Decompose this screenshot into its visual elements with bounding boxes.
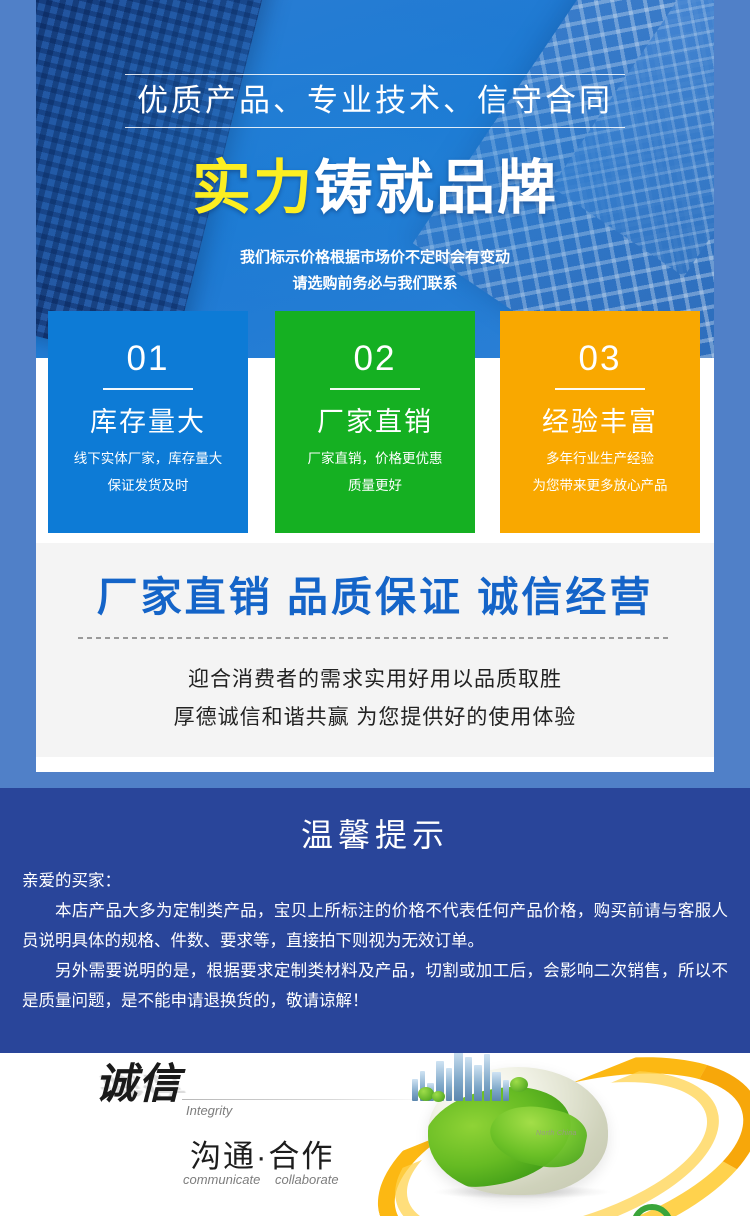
slogan-dotted-divider: [78, 637, 672, 639]
slogan-subtext-line-1: 迎合消费者的需求实用好用以品质取胜: [36, 661, 714, 699]
feature-card-02[interactable]: 02 厂家直销 厂家直销，价格更优惠 质量更好: [275, 311, 475, 533]
footer-cn-sub: 沟通·合作: [190, 1131, 334, 1176]
hero-subtext-line-1: 我们标示价格根据市场价不定时会有变动: [0, 245, 750, 271]
hero-headline-highlight: 实力: [192, 155, 314, 221]
feature-card-03-number: 03: [500, 311, 700, 380]
footer-en-sub-2: collaborate: [275, 1172, 339, 1187]
notice-greeting: 亲爱的买家：: [22, 866, 728, 896]
feature-card-01[interactable]: 01 库存量大 线下实体厂家，库存量大 保证发货及时: [48, 311, 248, 533]
feature-card-03-desc-1: 多年行业生产经验: [500, 447, 700, 470]
notice-paragraph-1: 本店产品大多为定制类产品，宝贝上所标注的价格不代表任何产品价格，购买前请与客服人…: [22, 896, 728, 956]
feature-cards: 01 库存量大 线下实体厂家，库存量大 保证发货及时 02 厂家直销 厂家直销，…: [0, 311, 750, 543]
feature-card-01-title: 库存量大: [48, 401, 248, 443]
notice-title: 温馨提示: [0, 788, 750, 858]
feature-card-03-rule: [555, 388, 645, 390]
hero-subtext-line-2: 请选购前务必与我们联系: [0, 271, 750, 297]
footer-en-sub-1: communicate: [183, 1172, 260, 1187]
feature-card-02-number: 02: [275, 311, 475, 380]
footer-cn-main: 诚信: [95, 1054, 181, 1116]
product-detail-page: 优质产品、专业技术、信守合同 实力铸就品牌 我们标示价格根据市场价不定时会有变动…: [0, 0, 750, 1216]
globe-tree-3: [510, 1077, 528, 1092]
hero-headline: 实力铸就品牌: [0, 152, 750, 224]
hero-banner: 优质产品、专业技术、信守合同 实力铸就品牌 我们标示价格根据市场价不定时会有变动…: [0, 0, 750, 358]
feature-card-03[interactable]: 03 经验丰富 多年行业生产经验 为您带来更多放心产品: [500, 311, 700, 533]
feature-card-01-rule: [103, 388, 193, 390]
feature-card-02-rule: [330, 388, 420, 390]
slogan-panel: 厂家直销 品质保证 诚信经营 迎合消费者的需求实用好用以品质取胜 厚德诚信和谐共…: [36, 543, 714, 757]
feature-card-02-title: 厂家直销: [275, 401, 475, 443]
globe-map-label: North China: [536, 1129, 577, 1138]
notice-section: 温馨提示 亲爱的买家： 本店产品大多为定制类产品，宝贝上所标注的价格不代表任何产…: [0, 788, 750, 1053]
globe-tree-2: [432, 1091, 445, 1102]
feature-card-03-title: 经验丰富: [500, 401, 700, 443]
footer-en-main: Integrity: [186, 1103, 232, 1118]
hero-subtext: 我们标示价格根据市场价不定时会有变动 请选购前务必与我们联系: [0, 245, 750, 297]
feature-card-01-number: 01: [48, 311, 248, 380]
hero-headline-rest: 铸就品牌: [314, 155, 558, 221]
slogan-subtext-line-2: 厚德诚信和谐共赢 为您提供好的使用体验: [36, 699, 714, 737]
notice-paragraph-2: 另外需要说明的是，根据要求定制类材料及产品，切割或加工后，会影响二次销售，所以不…: [22, 956, 728, 1016]
hero-tagline: 优质产品、专业技术、信守合同: [125, 75, 625, 127]
feature-card-03-desc-2: 为您带来更多放心产品: [500, 474, 700, 497]
slogan-subtext: 迎合消费者的需求实用好用以品质取胜 厚德诚信和谐共赢 为您提供好的使用体验: [36, 661, 714, 737]
hero-content: 优质产品、专业技术、信守合同 实力铸就品牌 我们标示价格根据市场价不定时会有变动…: [0, 0, 750, 358]
footer-banner: 诚信 诚信 Integrity 沟通·合作 communicate collab…: [0, 1053, 750, 1216]
feature-card-01-desc-2: 保证发货及时: [48, 474, 248, 497]
notice-body: 亲爱的买家： 本店产品大多为定制类产品，宝贝上所标注的价格不代表任何产品价格，购…: [0, 858, 750, 1016]
globe-city-skyline: [410, 1053, 520, 1101]
feature-card-01-desc-1: 线下实体厂家，库存量大: [48, 447, 248, 470]
feature-card-02-desc-2: 质量更好: [275, 474, 475, 497]
globe-artwork: North China: [380, 1053, 750, 1216]
notice-top-band: [0, 772, 750, 788]
hero-tagline-block: 优质产品、专业技术、信守合同: [125, 74, 625, 128]
slogan-headline: 厂家直销 品质保证 诚信经营: [36, 543, 714, 625]
feature-card-02-desc-1: 厂家直销，价格更优惠: [275, 447, 475, 470]
tagline-bottom-rule: [125, 127, 625, 128]
